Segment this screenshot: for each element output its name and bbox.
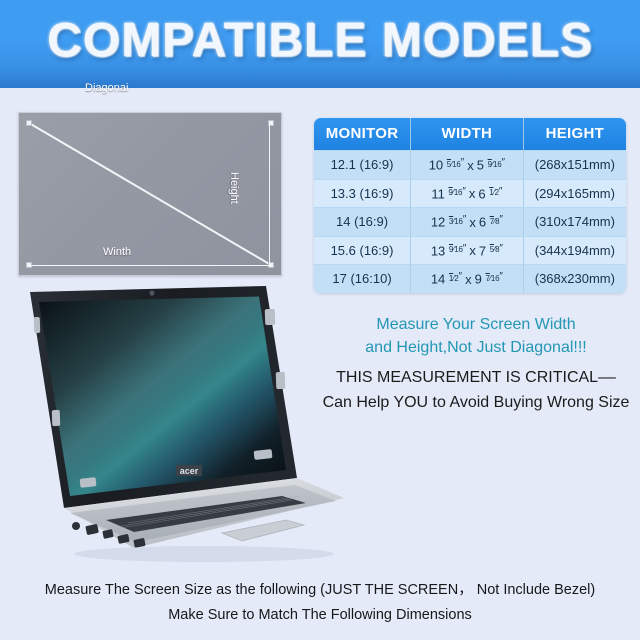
measurement-notes: Measure Your Screen Width and Height,Not… <box>318 313 634 415</box>
cell-monitor: 13.3 (16:9) <box>314 179 411 208</box>
caption-line-1: Measure The Screen Size as the following… <box>0 578 640 603</box>
note-teal-line-2: and Height,Not Just Diagonal!!! <box>318 336 634 359</box>
cell-metric: (310x174mm) <box>524 207 626 236</box>
filter-tab-right-top <box>265 309 276 325</box>
cell-metric: (344x194mm) <box>524 236 626 265</box>
filter-tab-bottom-left <box>80 477 97 488</box>
column-header-height: HEIGHT <box>524 118 626 150</box>
cell-monitor: 14 (16:9) <box>314 207 411 236</box>
note-dark-line-2: Can Help YOU to Avoid Buying Wrong Size <box>318 390 634 415</box>
compatible-models-table: MONITOR WIDTH HEIGHT 12.1 (16:9)10 5⁄16″… <box>314 118 626 293</box>
cell-metric: (294x165mm) <box>524 179 626 208</box>
note-teal-line-1: Measure Your Screen Width <box>318 313 634 336</box>
cell-dimensions: 12 3⁄16″x6 7⁄8″ <box>411 207 524 236</box>
table-row: 13.3 (16:9)11 9⁄16″x6 1⁄2″(294x165mm) <box>314 179 626 208</box>
monitor-diagram <box>18 112 282 276</box>
webcam-icon <box>149 290 154 295</box>
bottom-caption: Measure The Screen Size as the following… <box>0 578 640 628</box>
table-row: 12.1 (16:9)10 5⁄16″x5 9⁄16″(268x151mm) <box>314 150 626 179</box>
laptop-brand-label: acer <box>180 466 199 476</box>
table-row: 14 (16:9)12 3⁄16″x6 7⁄8″(310x174mm) <box>314 207 626 236</box>
column-header-monitor: MONITOR <box>314 118 411 150</box>
diagonal-line-icon <box>19 113 281 275</box>
cell-dimensions: 11 9⁄16″x6 1⁄2″ <box>411 179 524 208</box>
screen-glare <box>39 297 286 497</box>
page-title: COMPATIBLE MODELS <box>0 13 640 68</box>
diagram-label-height: Height <box>228 172 240 204</box>
column-header-width: WIDTH <box>411 118 524 150</box>
header-banner: COMPATIBLE MODELS <box>0 0 640 88</box>
table-body: 12.1 (16:9)10 5⁄16″x5 9⁄16″(268x151mm)13… <box>314 150 626 293</box>
note-dark-line-1: THIS MEASUREMENT IS CRITICAL–– <box>318 359 634 390</box>
diagram-label-diagonal: Diagonai <box>85 82 128 94</box>
table-header-row: MONITOR WIDTH HEIGHT <box>314 118 626 150</box>
filter-tab-left-top <box>34 317 41 333</box>
cell-monitor: 15.6 (16:9) <box>314 236 411 265</box>
corner-marker-top-left <box>26 120 32 126</box>
cell-dimensions: 14 1⁄2″x9 7⁄16″ <box>411 264 524 293</box>
width-dimension-line <box>29 265 269 266</box>
diagram-label-width: Winth <box>103 246 131 258</box>
table-row: 17 (16:10)14 1⁄2″x9 7⁄16″(368x230mm) <box>314 264 626 293</box>
laptop-shadow <box>74 546 334 562</box>
table-row: 15.6 (16:9)13 9⁄16″x7 5⁄8″(344x194mm) <box>314 236 626 265</box>
filter-tab-right-middle <box>276 372 286 389</box>
cell-metric: (368x230mm) <box>524 264 626 293</box>
cell-dimensions: 10 5⁄16″x5 9⁄16″ <box>411 150 524 179</box>
filter-tab-left-bottom <box>52 410 61 426</box>
height-dimension-line <box>269 123 270 265</box>
laptop-illustration: acer <box>14 282 354 572</box>
cell-metric: (268x151mm) <box>524 150 626 179</box>
cell-monitor: 12.1 (16:9) <box>314 150 411 179</box>
caption-line-2: Make Sure to Match The Following Dimensi… <box>0 603 640 628</box>
filter-tab-bottom-right <box>254 449 273 460</box>
cell-dimensions: 13 9⁄16″x7 5⁄8″ <box>411 236 524 265</box>
